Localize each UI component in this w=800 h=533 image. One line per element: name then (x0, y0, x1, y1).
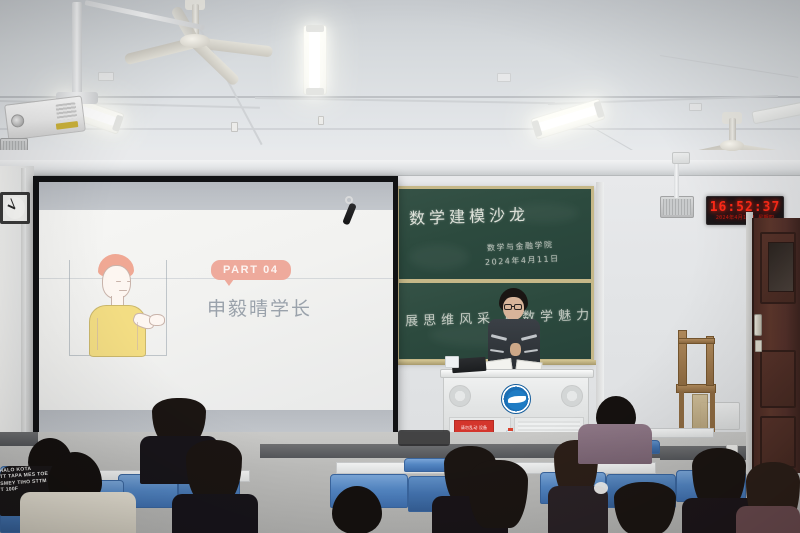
paper-stack (445, 356, 459, 368)
wire-mount-plate (497, 73, 511, 82)
blackboard-title: 数学建模沙龙 (409, 201, 530, 229)
ceiling-fan (135, 4, 255, 64)
wooden-chair-rail (678, 338, 715, 344)
projector-vent (55, 102, 77, 120)
student-hair (186, 440, 242, 502)
illustration-face (102, 265, 131, 299)
door-window (768, 242, 794, 292)
blackboard-upper-panel: 数学建模沙龙 数学与金融学院 2024年4月11日 (399, 189, 591, 279)
door-panel-middle (760, 350, 796, 408)
slide-content: PART 04 申毅晴学长 (39, 182, 393, 436)
student-torso (20, 492, 136, 533)
wall-seam (596, 182, 604, 422)
speaker-bracket (674, 160, 679, 198)
illustration-mouth (119, 290, 127, 291)
wall-speaker (660, 196, 694, 218)
student-hair (614, 482, 676, 533)
wooden-chair-leg (710, 392, 715, 432)
university-emblem (501, 384, 531, 414)
slide-title: 申毅晴学长 (207, 294, 312, 321)
eyeglasses-bridge (512, 306, 514, 307)
wire-mount-plate (689, 103, 702, 111)
eyeglasses-left-lens (504, 304, 512, 310)
lectern-rosette (449, 385, 471, 407)
presenter-hand (510, 343, 521, 356)
student-torso (172, 494, 258, 533)
person-presenting-illustration (75, 252, 185, 362)
slide-part-badge: PART 04 (211, 260, 291, 280)
wall-bracket (672, 152, 690, 164)
projector-lens (10, 114, 24, 128)
illustration-eye (116, 281, 121, 282)
lectern-rosette (561, 385, 583, 407)
student-head (332, 486, 382, 533)
fluorescent-light (303, 25, 327, 95)
projector-mount-arm (72, 2, 82, 94)
ceiling-hook (231, 122, 238, 132)
baseboard (0, 432, 38, 446)
door-lock[interactable] (755, 340, 762, 352)
screen-surface: PART 04 申毅晴学长 (39, 182, 393, 436)
door-panel-bottom (760, 416, 796, 468)
blackboard-subtitle-2: 2024年4月11日 (485, 253, 560, 268)
eyeglasses-right-lens (514, 304, 522, 310)
classroom-scene: 16:52:37 2024年4月11日 星期四 数学建模沙龙 数学与金融学院 2… (0, 0, 800, 533)
hair-accessory (594, 482, 608, 494)
illustration-fold (137, 322, 138, 350)
student-hair (468, 460, 528, 528)
illustration-eye (127, 281, 131, 282)
illustration-hand (149, 314, 165, 326)
student-torso (578, 424, 652, 464)
projector-label (56, 121, 79, 130)
student-torso (736, 506, 800, 533)
analog-wall-clock (0, 192, 30, 224)
bag-on-floor (398, 430, 450, 446)
projection-screen: PART 04 申毅晴学长 (33, 176, 398, 444)
blackboard-subtitle-1: 数学与金融学院 (487, 239, 554, 253)
notice-sign-text: 请勿乱动 设备 (457, 425, 491, 430)
illustration-fold (97, 318, 98, 350)
clock-time: 16:52:37 (710, 201, 781, 214)
classroom-door[interactable] (752, 218, 800, 473)
ceiling-hook (318, 116, 324, 125)
wire-mount-plate (98, 72, 114, 81)
door-handle[interactable] (754, 314, 762, 336)
